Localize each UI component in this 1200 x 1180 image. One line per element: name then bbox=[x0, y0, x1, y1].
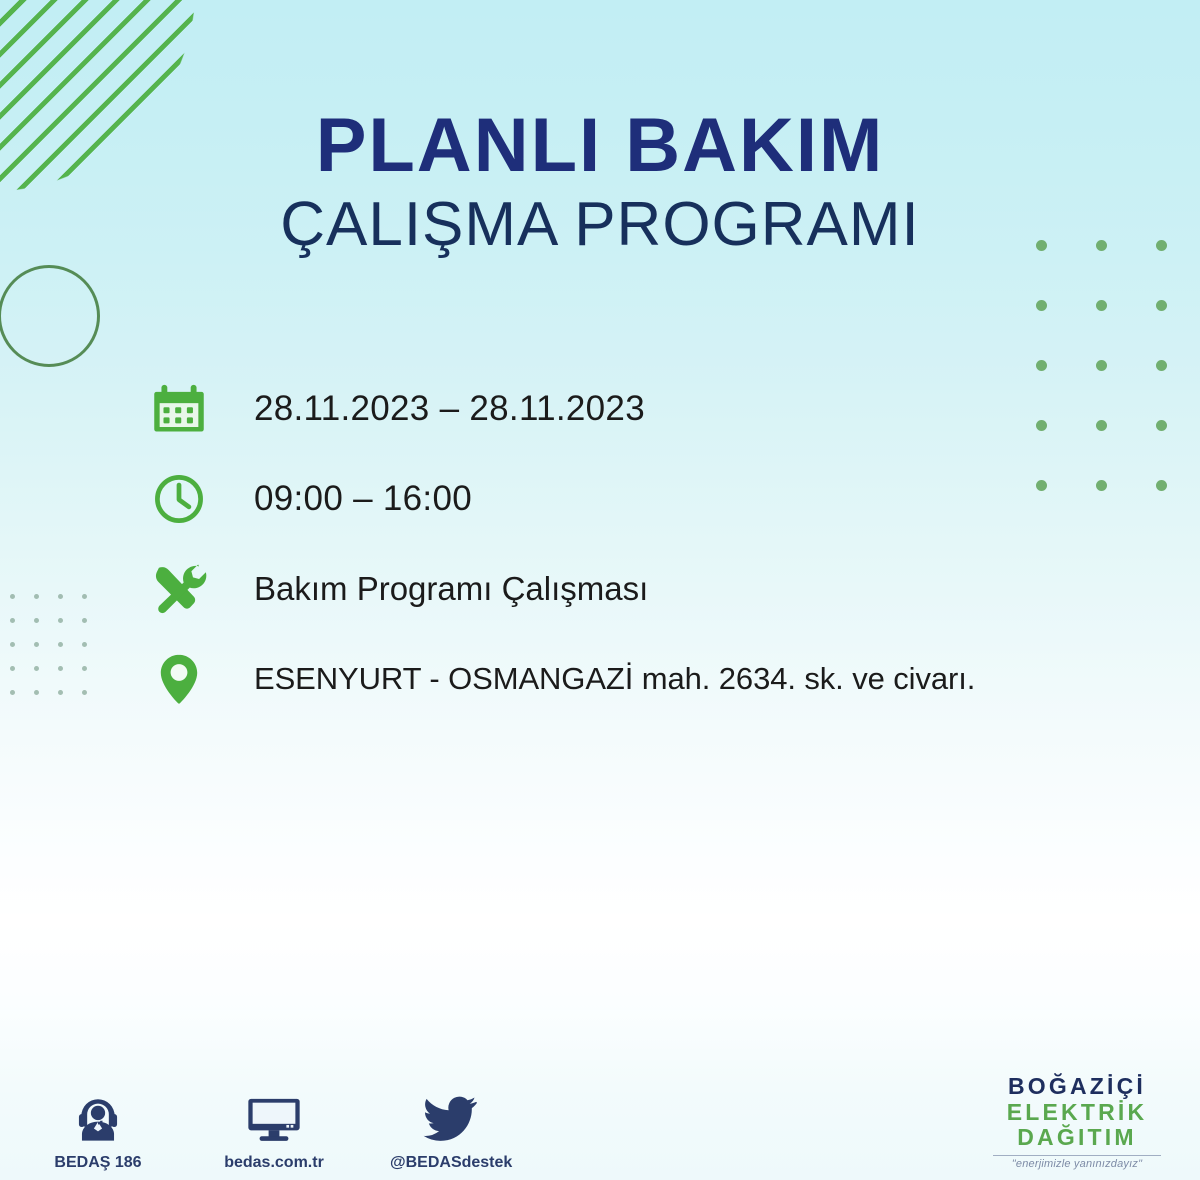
planned-maintenance-poster: PLANLI BAKIM ÇALIŞMA PROGRAMI bbox=[0, 0, 1200, 1180]
calendar-icon bbox=[148, 378, 210, 440]
detail-row-date: 28.11.2023 – 28.11.2023 bbox=[148, 378, 1108, 440]
logo-tagline: "enerjimizle yanınızdayız" bbox=[972, 1158, 1182, 1170]
logo-line-elektrik: ELEKTRİK bbox=[972, 1100, 1182, 1126]
detail-row-time: 09:00 – 16:00 bbox=[148, 468, 1108, 530]
maintenance-details-list: 28.11.2023 – 28.11.2023 09:00 – 16:00 bbox=[148, 378, 1108, 710]
contact-website-label: bedas.com.tr bbox=[214, 1154, 334, 1172]
contact-call-center[interactable]: BEDAŞ 186 bbox=[38, 1083, 158, 1172]
date-range-text: 28.11.2023 – 28.11.2023 bbox=[254, 389, 645, 429]
detail-row-worktype: Bakım Programı Çalışması bbox=[148, 558, 1108, 620]
decoration-dot bbox=[10, 594, 15, 599]
work-type-text: Bakım Programı Çalışması bbox=[254, 570, 648, 608]
logo-divider bbox=[993, 1155, 1161, 1156]
dot-grid-left-decoration bbox=[0, 594, 106, 714]
decoration-dot bbox=[1156, 480, 1167, 491]
decoration-dot bbox=[1096, 240, 1107, 251]
decoration-dot bbox=[1156, 420, 1167, 431]
contact-call-center-label: BEDAŞ 186 bbox=[38, 1154, 158, 1172]
decoration-dot bbox=[34, 666, 39, 671]
decoration-dot bbox=[82, 690, 87, 695]
decoration-dot bbox=[1156, 300, 1167, 311]
decoration-dot bbox=[10, 666, 15, 671]
detail-row-location: ESENYURT - OSMANGAZİ mah. 2634. sk. ve c… bbox=[148, 648, 1108, 710]
bedas-logo: BOĞAZİÇİ ELEKTRİK DAĞITIM "enerjimizle y… bbox=[972, 1074, 1182, 1170]
decoration-dot bbox=[58, 594, 63, 599]
contact-website[interactable]: bedas.com.tr bbox=[214, 1083, 334, 1172]
decoration-dot bbox=[1036, 360, 1047, 371]
decoration-dot bbox=[34, 642, 39, 647]
decoration-dot bbox=[82, 618, 87, 623]
decoration-dot bbox=[58, 666, 63, 671]
decoration-dot bbox=[58, 690, 63, 695]
logo-line-bogazici: BOĞAZİÇİ bbox=[972, 1074, 1182, 1100]
decoration-dot bbox=[34, 618, 39, 623]
decoration-dot bbox=[82, 594, 87, 599]
clock-icon bbox=[148, 468, 210, 530]
circle-outline-decoration bbox=[0, 265, 100, 367]
diagonal-stripes-decoration bbox=[0, 0, 240, 191]
decoration-dot bbox=[10, 642, 15, 647]
logo-line-dagitim: DAĞITIM bbox=[972, 1125, 1182, 1151]
location-text: ESENYURT - OSMANGAZİ mah. 2634. sk. ve c… bbox=[254, 661, 975, 697]
monitor-icon bbox=[214, 1083, 334, 1145]
decoration-dot bbox=[82, 666, 87, 671]
decoration-dot bbox=[1036, 300, 1047, 311]
time-range-text: 09:00 – 16:00 bbox=[254, 479, 472, 519]
contact-twitter-label: @BEDASdestek bbox=[390, 1154, 510, 1172]
decoration-dot bbox=[1156, 360, 1167, 371]
decoration-dot bbox=[34, 690, 39, 695]
decoration-dot bbox=[10, 618, 15, 623]
decoration-dot bbox=[1096, 360, 1107, 371]
decoration-dot bbox=[1096, 300, 1107, 311]
decoration-dot bbox=[10, 690, 15, 695]
decoration-dot bbox=[1156, 240, 1167, 251]
decoration-dot bbox=[34, 594, 39, 599]
headset-operator-icon bbox=[38, 1083, 158, 1145]
footer-contacts: BEDAŞ 186 bedas.com.tr bbox=[38, 1083, 510, 1172]
contact-twitter[interactable]: @BEDASdestek bbox=[390, 1083, 510, 1172]
location-pin-icon bbox=[148, 648, 210, 710]
page-subtitle: ÇALIŞMA PROGRAMI bbox=[0, 192, 1200, 257]
twitter-bird-icon bbox=[390, 1083, 510, 1145]
decoration-dot bbox=[58, 642, 63, 647]
decoration-dot bbox=[82, 642, 87, 647]
decoration-dot bbox=[1036, 240, 1047, 251]
tools-icon bbox=[148, 558, 210, 620]
decoration-dot bbox=[58, 618, 63, 623]
